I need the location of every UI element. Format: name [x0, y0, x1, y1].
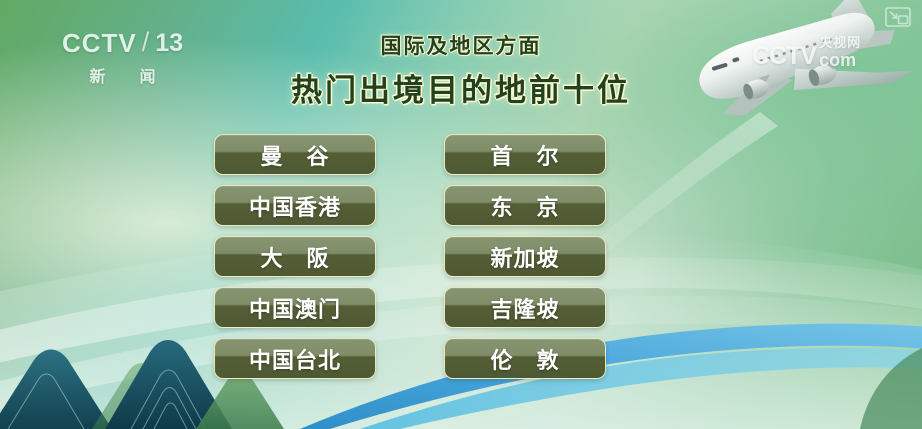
- destination-pill[interactable]: 大 阪: [214, 236, 376, 277]
- mountain-right: [860, 348, 922, 429]
- destination-label: 中国台北: [249, 343, 341, 375]
- destination-pill[interactable]: 曼 谷: [214, 134, 376, 175]
- mountain-left-small: [92, 363, 190, 429]
- destination-list: 曼 谷 首 尔 中国香港 东 京 大 阪 新加坡 中国澳门 吉隆坡 中国台北 伦…: [214, 134, 606, 379]
- destination-label: 东 京: [490, 190, 559, 222]
- destination-pill[interactable]: 中国香港: [214, 185, 376, 226]
- broadcast-graphic-screen: CCTV / 13 新 闻 CCTV 央视网 com 国际及地区方面 热门出境目…: [0, 0, 922, 429]
- destination-label: 伦 敦: [490, 343, 559, 375]
- destination-pill[interactable]: 东 京: [444, 185, 606, 226]
- destination-label: 大 阪: [260, 241, 329, 273]
- destination-pill[interactable]: 伦 敦: [444, 338, 606, 379]
- destination-pill[interactable]: 吉隆坡: [444, 287, 606, 328]
- destination-label: 吉隆坡: [490, 292, 559, 324]
- mountain-left: [0, 350, 112, 429]
- contour-lines: [8, 370, 206, 429]
- title-subheading: 国际及地区方面: [0, 30, 922, 60]
- destination-label: 中国澳门: [249, 292, 341, 324]
- destination-pill[interactable]: 首 尔: [444, 134, 606, 175]
- destination-pill[interactable]: 中国台北: [214, 338, 376, 379]
- destination-pill[interactable]: 中国澳门: [214, 287, 376, 328]
- picture-in-picture-icon[interactable]: [885, 7, 911, 27]
- destination-pill[interactable]: 新加坡: [444, 236, 606, 277]
- mountain-green: [196, 373, 284, 429]
- destination-label: 中国香港: [249, 190, 341, 222]
- page-title: 热门出境目的地前十位: [0, 65, 922, 110]
- destination-label: 新加坡: [490, 241, 559, 273]
- mountain-center: [105, 340, 232, 429]
- title-block: 国际及地区方面 热门出境目的地前十位: [0, 30, 922, 110]
- destination-label: 曼 谷: [260, 139, 329, 171]
- destination-label: 首 尔: [490, 139, 559, 171]
